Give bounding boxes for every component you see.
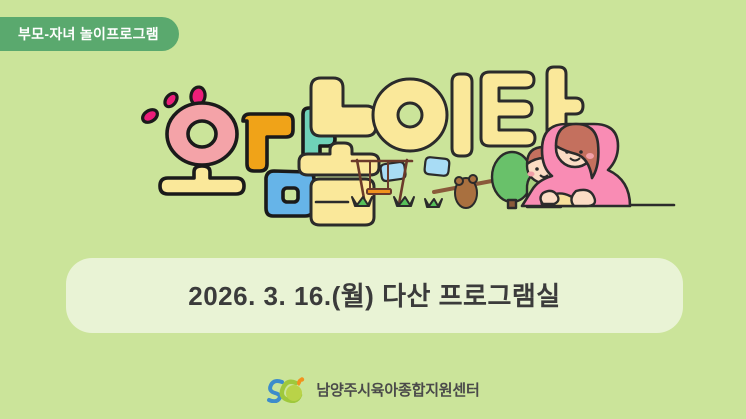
title-and-illustration-svg [0,62,746,232]
cloud-icon [424,157,450,176]
date-venue-banner: 2026. 3. 16.(월) 다산 프로그램실 [66,258,683,333]
organization-logo-icon [266,377,312,403]
poster-canvas: 부모-자녀 놀이프로그램 오감놀이터 [0,0,746,419]
grass-tuft-icon [394,197,414,206]
cloud-icon [380,161,406,181]
category-badge: 부모-자녀 놀이프로그램 [0,17,179,51]
sparkle-icon [140,107,159,125]
category-badge-label: 부모-자녀 놀이프로그램 [18,27,159,41]
sparkle-icon [162,91,179,109]
char-o [160,103,244,194]
grass-tuft-icon [425,199,442,207]
seesaw-icon [434,175,497,208]
date-venue-text: 2026. 3. 16.(월) 다산 프로그램실 [188,283,560,309]
title-artwork: 오감놀이터 [0,62,746,232]
char-i [373,74,472,156]
footer: 남양주시육아종합지원센터 [0,377,746,403]
organization-name: 남양주시육아종합지원센터 [316,383,479,398]
